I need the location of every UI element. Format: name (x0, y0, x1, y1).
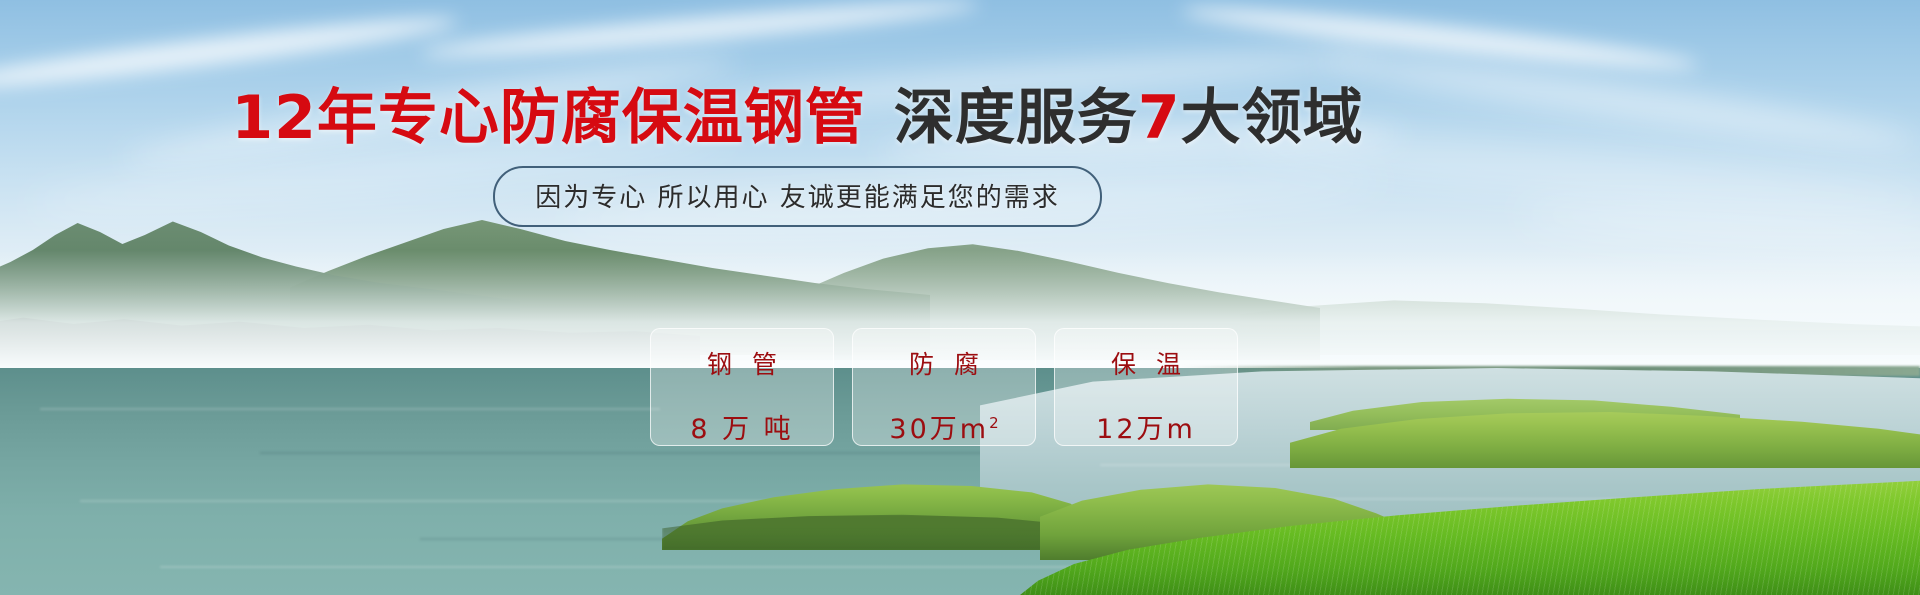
stat-card-value-text: 30万m (889, 414, 989, 445)
banner-content: 12年专心防腐保温钢管深度服务7大领域 因为专心 所以用心 友诚更能满足您的需求… (0, 0, 1920, 595)
stat-card-value: 30万m2 (889, 407, 998, 446)
hero-banner: 12年专心防腐保温钢管深度服务7大领域 因为专心 所以用心 友诚更能满足您的需求… (0, 0, 1920, 595)
stat-card-value: 12万m (1096, 407, 1196, 446)
stat-card-value-text: 8 万 吨 (690, 414, 793, 445)
stat-card-anticorrosion[interactable]: 防 腐 30万m2 (852, 328, 1036, 446)
stat-card-label: 钢 管 (701, 345, 783, 381)
stat-card-steel-pipe[interactable]: 钢 管 8 万 吨 (650, 328, 834, 446)
banner-subtitle: 因为专心 所以用心 友诚更能满足您的需求 (493, 166, 1102, 227)
headline-fields-number: 7 (1138, 83, 1181, 153)
banner-headline: 12年专心防腐保温钢管深度服务7大领域 (0, 88, 1595, 148)
banner-subtitle-container: 因为专心 所以用心 友诚更能满足您的需求 (0, 166, 1595, 227)
stat-card-value-text: 12万m (1096, 414, 1196, 445)
headline-years-number: 12 (231, 83, 317, 153)
stat-card-label: 保 温 (1105, 345, 1187, 381)
headline-fields-text: 大领域 (1181, 83, 1364, 153)
stat-cards: 钢 管 8 万 吨 防 腐 30万m2 保 温 12万m (650, 328, 1238, 446)
stat-card-value: 8 万 吨 (690, 407, 793, 446)
headline-years-unit: 年专心防腐保温钢管 (317, 83, 866, 153)
stat-card-label: 防 腐 (903, 345, 985, 381)
stat-card-value-superscript: 2 (989, 414, 999, 432)
stat-card-insulation[interactable]: 保 温 12万m (1054, 328, 1238, 446)
headline-service-text: 深度服务 (894, 83, 1138, 153)
